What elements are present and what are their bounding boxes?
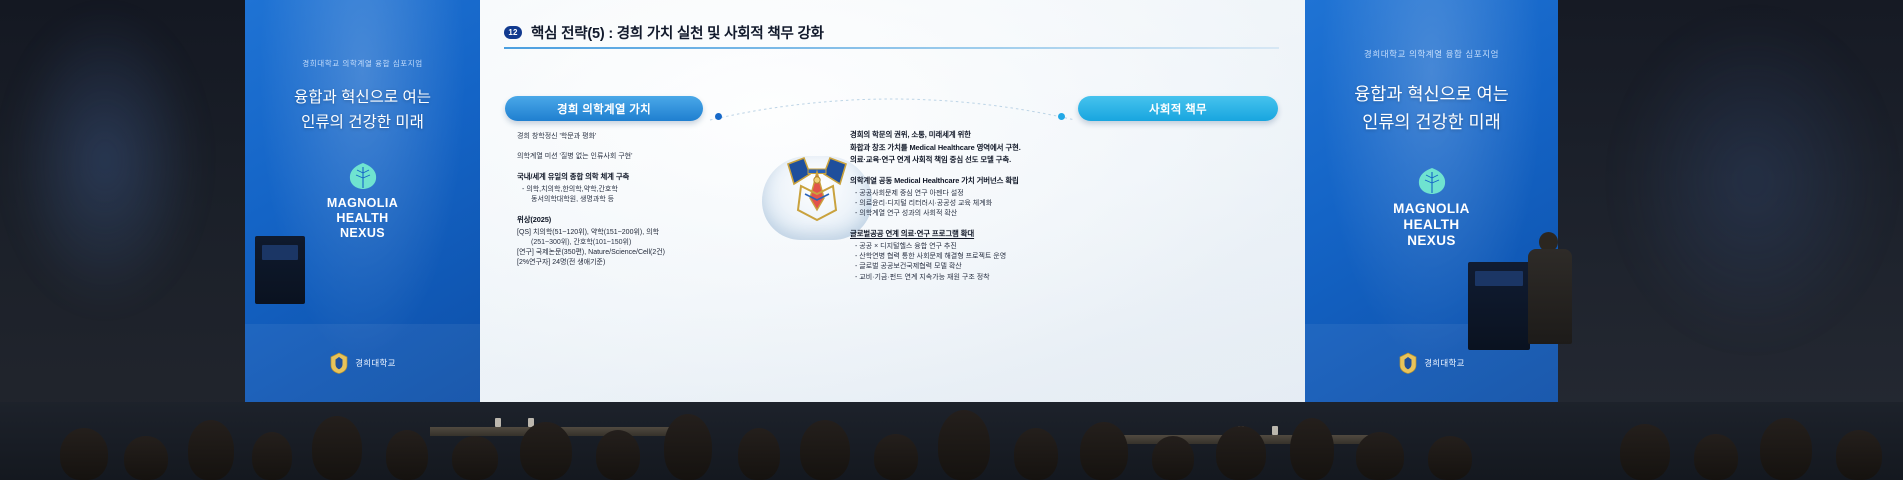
audience-head [520, 422, 572, 480]
audience-head [938, 410, 990, 480]
slide-title: 핵심 전략(5) : 경희 가치 실천 및 사회적 책무 강화 [531, 22, 824, 43]
audience-head [1014, 428, 1058, 480]
governance-heading: 의학계열 공동 Medical Healthcare 가치 거버넌스 확립 [850, 176, 1170, 187]
magnolia-leaf-icon [346, 161, 380, 191]
connector-dot-right [1058, 113, 1065, 120]
audience-head [874, 434, 918, 480]
title-divider [504, 47, 1279, 49]
global-bullet-3: - 글로벌 공공보건국제협력 모델 확산 [850, 262, 1170, 272]
audience-head [664, 414, 712, 480]
audience-head [188, 420, 234, 480]
podium-left [255, 236, 305, 304]
presentation-room-scene: 경희대학교 의학계열 융합 심포지엄 융합과 혁신으로 여는 인류의 건강한 미… [0, 0, 1903, 480]
audience-cup [495, 418, 501, 427]
global-bullet-4: - 교비·기금·펀드 연계 지속가능 재원 구조 정착 [850, 273, 1170, 283]
audience-head [312, 416, 362, 480]
banner-left-title-line2: 인류의 건강한 미래 [245, 110, 480, 135]
system-sub-2: 동서의학대학원, 생명과학 등 [517, 195, 758, 205]
audience-head [1620, 424, 1670, 480]
audience-head [252, 432, 292, 480]
intro-line-2: 화합과 창조 가치를 Medical Healthcare 영역에서 구현. [850, 143, 1170, 154]
banner-left-title-line1: 융합과 혁신으로 여는 [245, 85, 480, 110]
audience-foreground [0, 340, 1903, 480]
status-qs-line-1: [QS] 치의학(51~120위), 약학(151~200위), 의학 [517, 228, 758, 238]
audience-head [60, 428, 108, 480]
audience-head [1356, 432, 1404, 480]
right-text-column: 경희의 학문의 권위, 소통, 미래세계 위한 화합과 창조 가치를 Medic… [850, 130, 1170, 283]
magnolia-logo-left-line2: HEALTH [245, 211, 480, 226]
founding-spirit-line: 경희 창학정신 '학문과 평화' [517, 132, 758, 142]
audience-head [1216, 426, 1266, 480]
intro-line-3: 의료·교육·연구 연계 사회적 책임 중심 선도 모델 구축. [850, 155, 1170, 166]
left-text-column: 경희 창학정신 '학문과 평화' 의학계열 미션 '질병 없는 인류사회 구현'… [508, 132, 758, 269]
speaker-person [1528, 232, 1572, 344]
magnolia-logo-right-line1: MAGNOLIA [1305, 201, 1558, 217]
magnolia-logo-right-line2: HEALTH [1305, 217, 1558, 233]
intro-line-1: 경희의 학문의 권위, 소통, 미래세계 위한 [850, 130, 1170, 141]
banner-left-kicker: 경희대학교 의학계열 융합 심포지엄 [245, 58, 480, 69]
magnolia-logo-right-line3: NEXUS [1305, 233, 1558, 249]
system-heading: 국내/세계 유일의 종합 의학 체계 구축 [517, 172, 758, 183]
ambient-glow-left [10, 10, 200, 310]
magnolia-logo-left-line3: NEXUS [245, 226, 480, 241]
audience-head [1836, 430, 1882, 480]
magnolia-logo-right: MAGNOLIA HEALTH NEXUS [1305, 166, 1558, 249]
system-sub-1: - 의학,치의학,한의학,약학,간호학 [517, 185, 758, 195]
audience-head [1290, 418, 1334, 480]
audience-head [738, 428, 780, 480]
podium-right [1468, 262, 1530, 350]
governance-bullet-2: - 의료윤리·디지털 리터러시·공공성 교육 체계화 [850, 199, 1170, 209]
governance-bullet-1: - 공공사회문제 중심 연구 아젠다 설정 [850, 189, 1170, 199]
slide-header: 12 핵심 전략(5) : 경희 가치 실천 및 사회적 책무 강화 [504, 22, 1279, 43]
status-research-line: [연구] 국제논문(350편), Nature/Science/Cell(2건) [517, 248, 758, 258]
pill-medical-values: 경희 의학계열 가치 [505, 96, 703, 121]
magnolia-logo-left: MAGNOLIA HEALTH NEXUS [245, 161, 480, 240]
mission-line: 의학계열 미션 '질병 없는 인류사회 구현' [517, 152, 758, 162]
global-bullet-2: - 산학연병 협력 통한 사회문제 해결형 프로젝트 운영 [850, 252, 1170, 262]
banner-right-kicker: 경희대학교 의학계열 융합 심포지엄 [1305, 48, 1558, 60]
audience-head [1080, 422, 1128, 480]
status-heading: 위상(2025) [517, 215, 758, 226]
audience-head [124, 436, 168, 480]
podium-left-screen [262, 245, 298, 260]
status-top2-line: [2%연구자] 24명(전 생애기준) [517, 258, 758, 268]
audience-head [1694, 434, 1738, 480]
magnolia-leaf-icon [1415, 166, 1449, 196]
audience-head [452, 436, 498, 480]
banner-right-title-line1: 융합과 혁신으로 여는 [1305, 80, 1558, 108]
connector-dot-left [715, 113, 722, 120]
audience-cup [1272, 426, 1278, 435]
audience-head [1428, 436, 1472, 480]
audience-head [386, 430, 428, 480]
speaker-body [1528, 249, 1572, 344]
audience-head [596, 430, 640, 480]
audience-head [1760, 418, 1812, 480]
slide-number-badge: 12 [504, 26, 522, 39]
global-bullet-1: - 공공 × 디지털헬스 융합 연구 추진 [850, 242, 1170, 252]
status-qs-line-2: (251~300위), 간호학(101~150위) [517, 238, 758, 248]
audience-head [1152, 436, 1194, 480]
podium-right-screen [1475, 271, 1523, 286]
magnolia-logo-left-line1: MAGNOLIA [245, 196, 480, 211]
pill-social-responsibility: 사회적 책무 [1078, 96, 1278, 121]
global-heading: 글로벌공공 연계 의료·연구 프로그램 확대 [850, 229, 1170, 240]
ambient-glow-right [1623, 20, 1883, 340]
governance-bullet-3: - 의학계열 연구 성과의 사회적 확산 [850, 209, 1170, 219]
connector-arc [700, 86, 1085, 130]
audience-head [800, 420, 850, 480]
banner-right-title-line2: 인류의 건강한 미래 [1305, 108, 1558, 136]
